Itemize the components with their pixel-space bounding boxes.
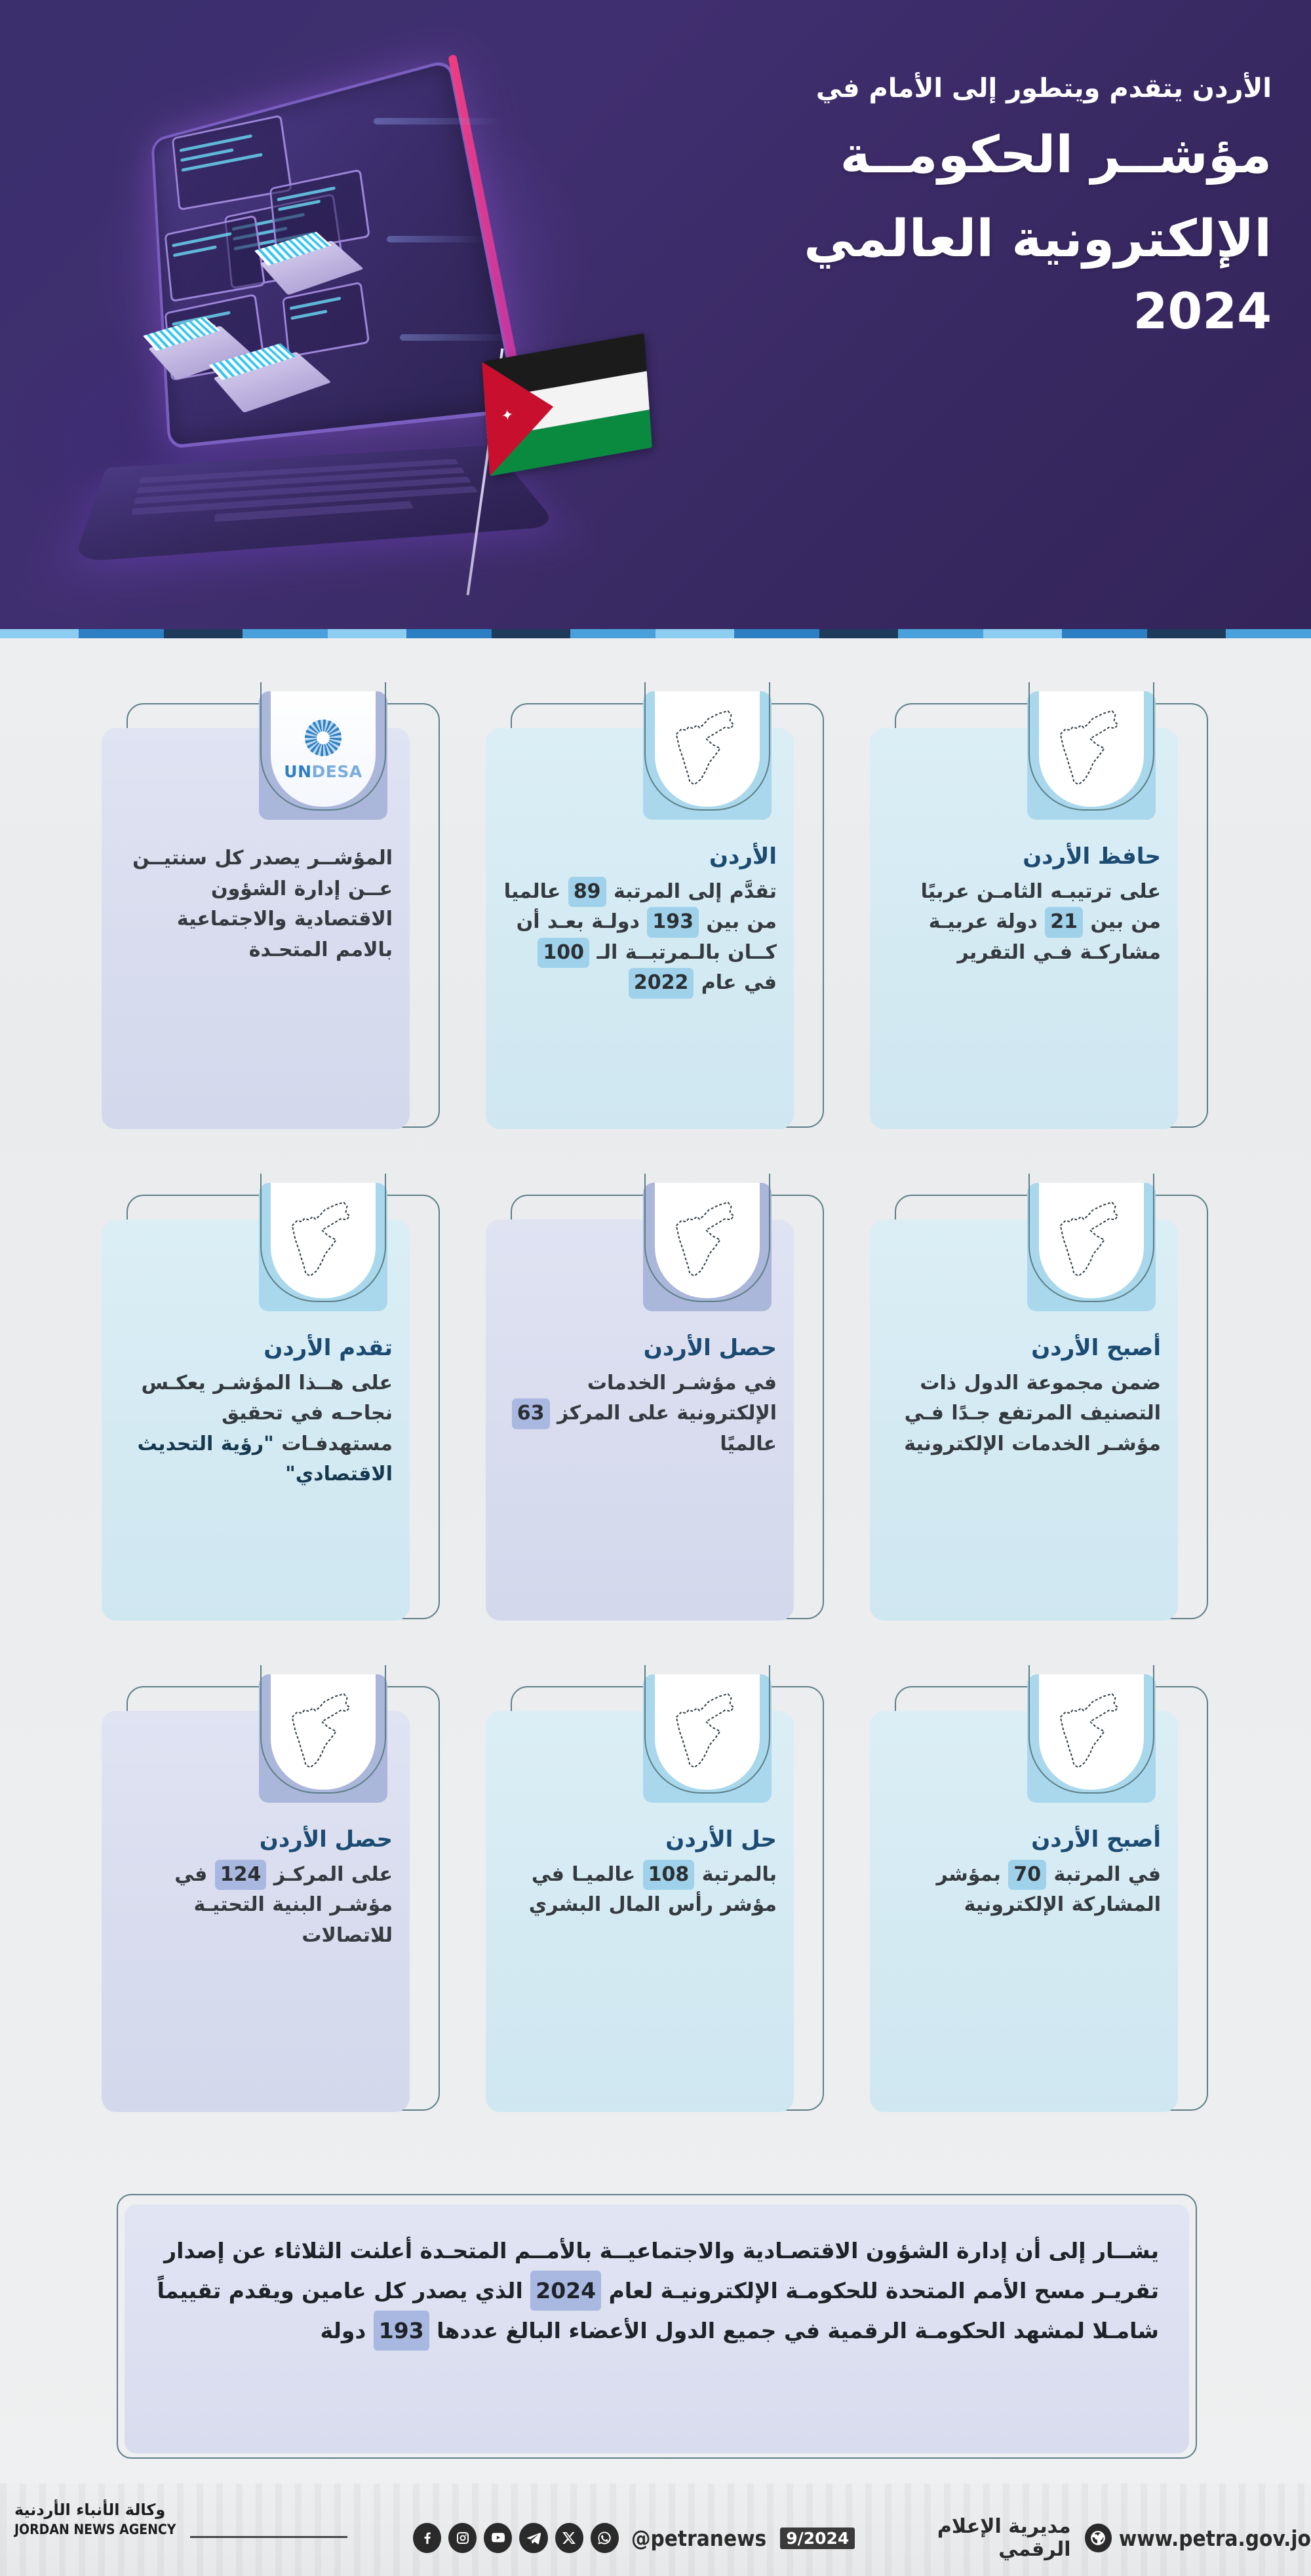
card-title: حل الأردن bbox=[503, 1826, 777, 1853]
text-run: ضمن مجموعة الدول ذات التصنيف المرتفع جـد… bbox=[904, 1372, 1161, 1455]
jordan-map-icon bbox=[1051, 1690, 1132, 1774]
stat-card: حافظ الأردنعلى ترتيبـه الثامـن عربيًا من… bbox=[870, 691, 1216, 1150]
card-text: على المركـز 124 في مؤشـر البنية التحتيـة… bbox=[119, 1860, 393, 1951]
glow-streak bbox=[400, 334, 511, 341]
laptop-servers-illustration: ✦ bbox=[59, 72, 583, 583]
infographic-page: ✦ الأردن يتقدم ويتطور إلى الأمام في مؤشـ… bbox=[0, 0, 1311, 2576]
card-title: حافظ الأردن bbox=[887, 843, 1161, 870]
card-text: بالمرتبة 108 عالميـا في مؤشر رأس المال ا… bbox=[503, 1860, 777, 1921]
jordan-map-icon bbox=[283, 1199, 364, 1282]
highlighted-number: 21 bbox=[1045, 907, 1083, 938]
footer-rule bbox=[190, 2536, 347, 2538]
un-globe-icon bbox=[303, 718, 343, 758]
card-text: ضمن مجموعة الدول ذات التصنيف المرتفع جـد… bbox=[887, 1368, 1161, 1460]
card-text: المؤشــر يصدر كل سنتيــن عــن إدارة الشؤ… bbox=[119, 843, 393, 965]
jordan-map-shield-icon bbox=[655, 1674, 760, 1790]
card-badge bbox=[643, 1183, 772, 1311]
stat-card: المؤشــر يصدر كل سنتيــن عــن إدارة الشؤ… bbox=[102, 691, 448, 1150]
jordan-map-shield-icon bbox=[1039, 691, 1144, 807]
highlighted-number: 193 bbox=[374, 2311, 429, 2351]
jordan-map-shield-icon bbox=[1039, 1674, 1144, 1790]
text-run: دولة bbox=[320, 2318, 373, 2343]
text-run: في عام bbox=[694, 971, 777, 994]
agency-name-ar: وكالة الأنباء الأردنية bbox=[14, 2501, 176, 2519]
text-run: في المرتبة bbox=[1046, 1863, 1161, 1886]
jordan-map-shield-icon bbox=[271, 1674, 376, 1790]
stat-card: الأردنتقدَّم إلى المرتبة 89 عالميا من بي… bbox=[486, 691, 832, 1150]
jordan-map-icon bbox=[1051, 1199, 1132, 1282]
text-run: في مؤشـر الخدمات الإلكترونية على المركز bbox=[550, 1372, 777, 1425]
text-run: على المركـز bbox=[266, 1863, 393, 1886]
text-run: بالمرتبة bbox=[694, 1863, 777, 1886]
facebook-icon[interactable] bbox=[413, 2523, 441, 2553]
card-text: على هــذا المؤشـر يعكـس نجاحـه في تحقيق … bbox=[119, 1368, 393, 1490]
text-run: المؤشــر يصدر كل سنتيــن عــن إدارة الشؤ… bbox=[132, 847, 393, 961]
highlighted-number: 100 bbox=[538, 938, 589, 969]
glow-streak bbox=[374, 118, 505, 125]
agency-logo: وكالة الأنباء الأردنية JORDAN NEWS AGENC… bbox=[14, 2501, 176, 2537]
x-twitter-icon[interactable] bbox=[555, 2523, 583, 2553]
text-run: عالميًا bbox=[720, 1432, 777, 1455]
jordan-map-shield-icon bbox=[271, 1183, 376, 1298]
card-badge bbox=[1027, 1674, 1156, 1803]
page-title-line2: الإلكترونية العالمي bbox=[551, 207, 1272, 273]
jordan-map-icon bbox=[1051, 707, 1132, 791]
card-badge bbox=[259, 1183, 387, 1311]
highlighted-number: 63 bbox=[512, 1398, 550, 1429]
jordan-map-icon bbox=[667, 707, 748, 791]
un-desa-wordmark: UNDESA bbox=[284, 762, 362, 781]
jordan-map-shield-icon bbox=[1039, 1183, 1144, 1298]
highlighted-number: 70 bbox=[1008, 1860, 1046, 1891]
card-badge bbox=[643, 691, 772, 820]
jordan-map-icon bbox=[667, 1199, 748, 1282]
card-text: على ترتيبـه الثامـن عربيًا من بين 21 دول… bbox=[887, 877, 1161, 969]
footnote-box: يشــار إلى أن إدارة الشؤون الاقتصـادية و… bbox=[125, 2204, 1189, 2453]
jordan-map-icon bbox=[283, 1690, 364, 1774]
card-badge: UNDESA bbox=[259, 691, 387, 820]
stats-card-grid: حافظ الأردنعلى ترتيبـه الثامـن عربيًا من… bbox=[102, 691, 1216, 2133]
highlighted-number: 108 bbox=[643, 1860, 695, 1891]
globe-icon bbox=[1085, 2524, 1112, 2552]
jordan-map-shield-icon bbox=[655, 691, 760, 807]
card-title: تقدم الأردن bbox=[119, 1335, 393, 1362]
header-banner: ✦ الأردن يتقدم ويتطور إلى الأمام في مؤشـ… bbox=[0, 0, 1311, 632]
stat-card: أصبح الأردنضمن مجموعة الدول ذات التصنيف … bbox=[870, 1183, 1216, 1642]
card-badge bbox=[1027, 691, 1156, 820]
footer-bar: وكالة الأنباء الأردنية JORDAN NEWS AGENC… bbox=[0, 2484, 1311, 2576]
card-title: حصل الأردن bbox=[119, 1826, 393, 1853]
jordan-map-icon bbox=[667, 1690, 748, 1774]
highlighted-number: 124 bbox=[215, 1860, 267, 1891]
stat-card: حصل الأردنفي مؤشـر الخدمات الإلكترونية ع… bbox=[486, 1183, 832, 1642]
card-text: في المرتبة 70 بمؤشر المشاركة الإلكترونية bbox=[887, 1860, 1161, 1921]
un-desa-logo-icon: UNDESA bbox=[271, 691, 376, 807]
stat-card: أصبح الأردنفي المرتبة 70 بمؤشر المشاركة … bbox=[870, 1674, 1216, 2133]
text-run: تقدَّم إلى المرتبة bbox=[606, 880, 777, 903]
card-text: في مؤشـر الخدمات الإلكترونية على المركز … bbox=[503, 1368, 777, 1460]
highlighted-number: 89 bbox=[568, 877, 606, 908]
dashed-divider bbox=[0, 629, 1311, 638]
website-url: www.petra.gov.jo bbox=[1119, 2526, 1311, 2551]
card-badge bbox=[259, 1674, 387, 1803]
whatsapp-icon[interactable] bbox=[591, 2523, 619, 2553]
card-title: أصبح الأردن bbox=[887, 1826, 1161, 1853]
instagram-icon[interactable] bbox=[448, 2523, 477, 2553]
header-kicker: الأردن يتقدم ويتطور إلى الأمام في bbox=[551, 72, 1272, 105]
card-title: أصبح الأردن bbox=[887, 1335, 1161, 1362]
page-title-line1: مؤشــر الحكومــة bbox=[551, 123, 1272, 189]
footnote-text: يشــار إلى أن إدارة الشؤون الاقتصـادية و… bbox=[155, 2231, 1159, 2351]
stat-card: حل الأردنبالمرتبة 108 عالميـا في مؤشر رأ… bbox=[486, 1674, 832, 2133]
stat-card: تقدم الأردنعلى هــذا المؤشـر يعكـس نجاحـ… bbox=[102, 1183, 448, 1642]
card-text: تقدَّم إلى المرتبة 89 عالميا من بين 193 … bbox=[503, 877, 777, 999]
glow-streak bbox=[387, 236, 485, 242]
telegram-icon[interactable] bbox=[519, 2523, 547, 2553]
date-badge: 9/2024 bbox=[780, 2528, 855, 2549]
footer-social-row: @petranews 9/2024 مديرية الإعلام الرقمي … bbox=[413, 2515, 1311, 2561]
card-title: حصل الأردن bbox=[503, 1335, 777, 1362]
un-desa-logo-icon: UNDESA bbox=[284, 718, 362, 781]
highlighted-number: 2022 bbox=[629, 968, 694, 999]
card-title: الأردن bbox=[503, 843, 777, 870]
stat-card: حصل الأردنعلى المركـز 124 في مؤشـر البني… bbox=[102, 1674, 448, 2133]
social-handle: @petranews bbox=[631, 2526, 766, 2551]
header-year: 2024 bbox=[551, 282, 1272, 340]
header-title-block: الأردن يتقدم ويتطور إلى الأمام في مؤشــر… bbox=[551, 72, 1272, 340]
card-badge bbox=[1027, 1183, 1156, 1311]
card-badge bbox=[643, 1674, 772, 1803]
jordan-map-shield-icon bbox=[655, 1183, 760, 1298]
highlighted-number: 193 bbox=[647, 907, 699, 938]
highlighted-number: 2024 bbox=[530, 2271, 601, 2311]
department-label: مديرية الإعلام الرقمي bbox=[871, 2515, 1070, 2561]
agency-name-en: JORDAN NEWS AGENCY bbox=[14, 2522, 176, 2537]
youtube-icon[interactable] bbox=[484, 2523, 512, 2553]
